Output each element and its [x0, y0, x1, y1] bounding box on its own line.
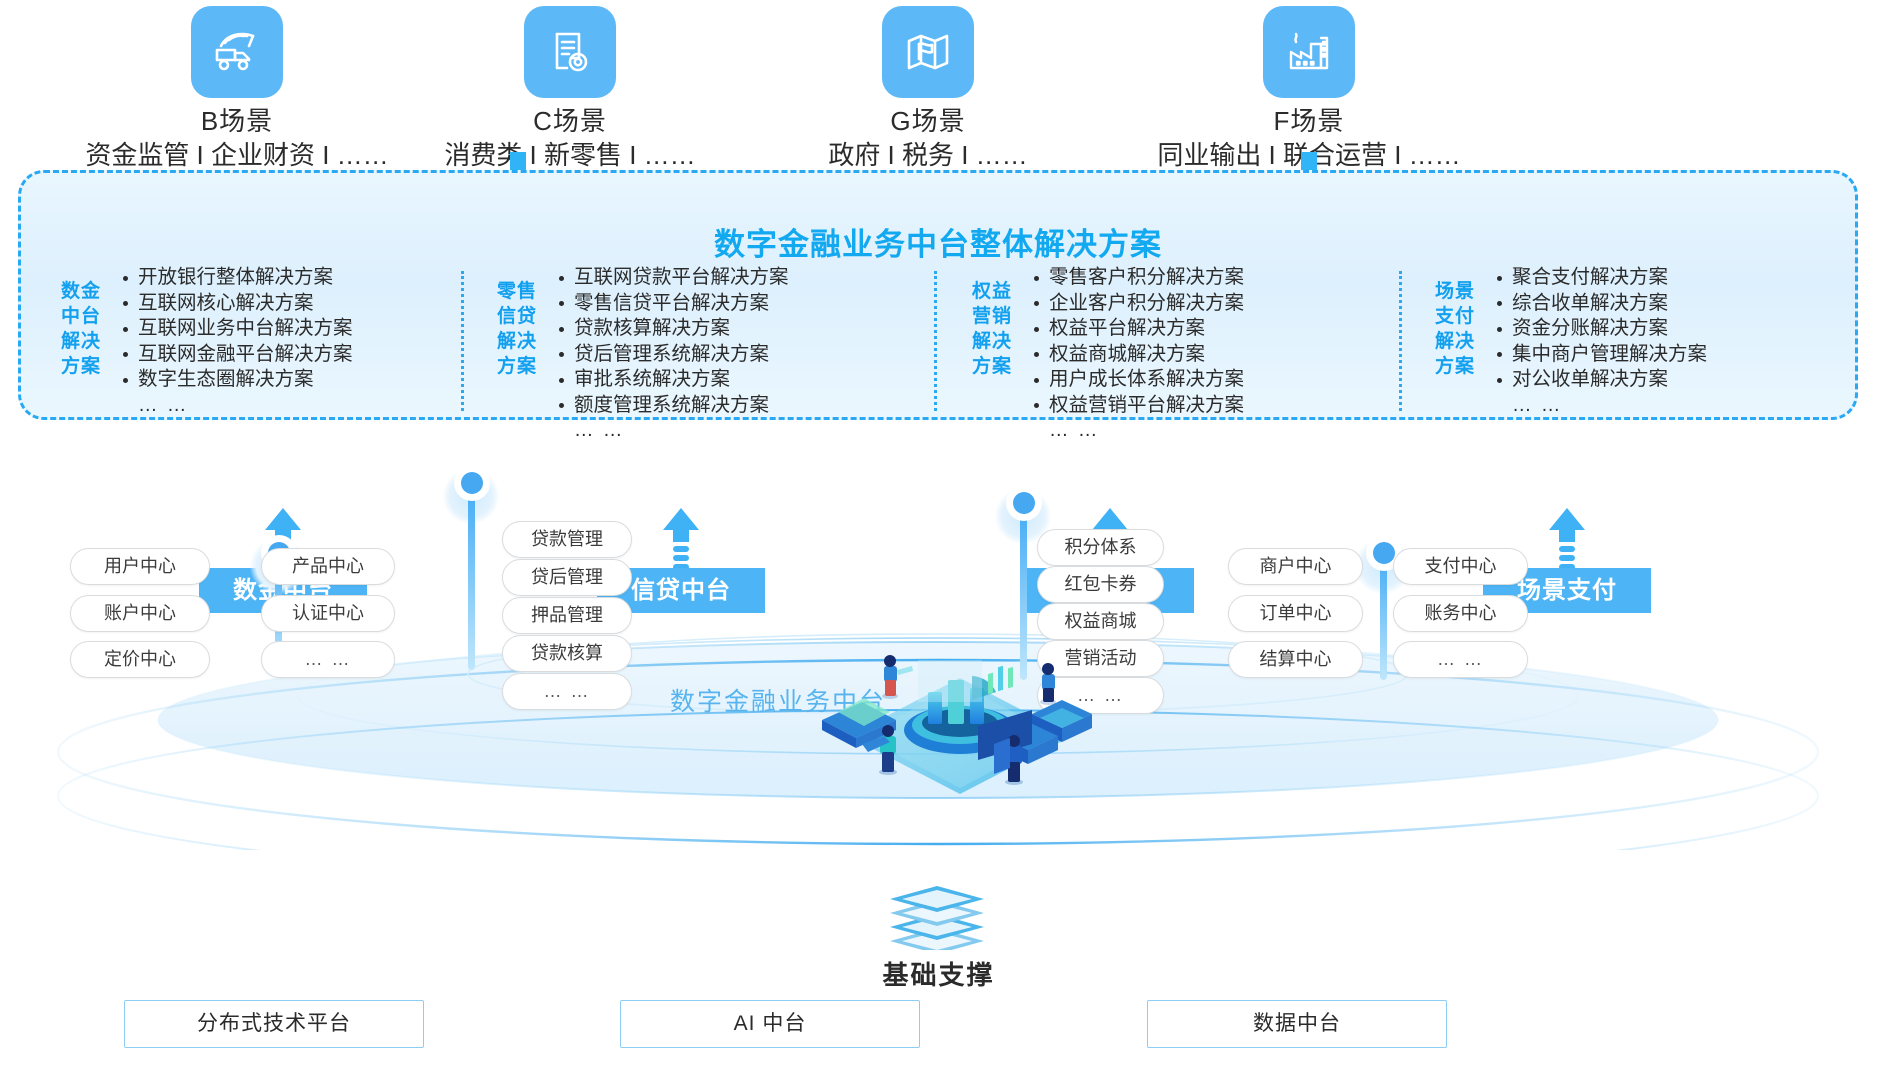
pill-rights-mall[interactable]: 权益商城	[1037, 603, 1164, 640]
scenario-subtitle: 资金监管 I 企业财资 I ……	[72, 138, 402, 172]
map-flag-icon	[882, 6, 974, 98]
list-item: 贷后管理系统解决方案	[557, 342, 789, 368]
list-item: 互联网贷款平台解决方案	[557, 265, 789, 291]
pill-coupon[interactable]: 红包卡券	[1037, 566, 1164, 603]
document-badge-icon	[524, 6, 616, 98]
scenario-subtitle: 消费类 I 新零售 I ……	[405, 138, 735, 172]
list-ellipsis: … …	[121, 393, 353, 419]
stem-dot-xindai	[461, 472, 483, 494]
column-item-list: 零售客户积分解决方案 企业客户积分解决方案 权益平台解决方案 权益商城解决方案 …	[1018, 265, 1244, 444]
stem-dot-changjing	[1373, 542, 1395, 564]
list-item: 用户成长体系解决方案	[1032, 367, 1244, 393]
scenario-title: B场景	[72, 104, 402, 138]
list-item: 互联网业务中台解决方案	[121, 316, 353, 342]
scenario-card-g[interactable]: G场景 政府 I 税务 I ……	[763, 6, 1093, 172]
base-support-title: 基础支撑	[0, 955, 1877, 992]
base-box-data-platform[interactable]: 数据中台	[1147, 1000, 1447, 1048]
list-ellipsis: … …	[557, 418, 789, 444]
solution-column-changjing: 场景 支付 解决 方案 聚合支付解决方案 综合收单解决方案 资金分账解决方案 集…	[1429, 265, 1849, 418]
person-figure	[994, 735, 1023, 785]
column-divider-1	[461, 271, 464, 411]
column-item-list: 互联网贷款平台解决方案 零售信贷平台解决方案 贷款核算解决方案 贷后管理系统解决…	[543, 265, 789, 444]
column-divider-2	[934, 271, 937, 411]
pill-more-xindai[interactable]: … …	[502, 673, 632, 710]
list-item: 互联网核心解决方案	[121, 291, 353, 317]
solution-column-lingshou: 零售 信贷 解决 方案 互联网贷款平台解决方案 零售信贷平台解决方案 贷款核算解…	[491, 265, 921, 444]
pill-pricing-center[interactable]: 定价中心	[70, 641, 210, 678]
scenario-title: G场景	[763, 104, 1093, 138]
column-item-list: 开放银行整体解决方案 互联网核心解决方案 互联网业务中台解决方案 互联网金融平台…	[107, 265, 353, 418]
list-item: 企业客户积分解决方案	[1032, 291, 1244, 317]
pill-more-changjing[interactable]: … …	[1393, 641, 1528, 678]
stem-xindai	[468, 480, 475, 670]
pill-more-shujin[interactable]: … …	[261, 641, 395, 678]
pill-user-center[interactable]: 用户中心	[70, 548, 210, 585]
solution-column-shujin: 数金 中台 解决 方案 开放银行整体解决方案 互联网核心解决方案 互联网业务中台…	[55, 265, 455, 418]
column-tag: 权益 营销 解决 方案	[966, 265, 1018, 379]
list-item: 零售信贷平台解决方案	[557, 291, 789, 317]
scenario-subtitle: 政府 I 税务 I ……	[763, 138, 1093, 172]
layers-stack-icon	[872, 880, 1002, 950]
pill-account-center[interactable]: 账户中心	[70, 595, 210, 632]
diagram-canvas: B场景 资金监管 I 企业财资 I …… C场景 消费类 I 新零售 I ……	[0, 0, 1877, 1070]
solution-columns: 数金 中台 解决 方案 开放银行整体解决方案 互联网核心解决方案 互联网业务中台…	[21, 265, 1855, 415]
panel-title: 数字金融业务中台整体解决方案	[21, 219, 1855, 264]
pill-points-system[interactable]: 积分体系	[1037, 529, 1164, 566]
stem-changjing	[1380, 550, 1387, 680]
scenario-title: C场景	[405, 104, 735, 138]
pill-loan-mgmt[interactable]: 贷款管理	[502, 521, 632, 558]
base-box-ai-platform[interactable]: AI 中台	[620, 1000, 920, 1048]
pill-auth-center[interactable]: 认证中心	[261, 595, 395, 632]
solution-panel: 数字金融业务中台整体解决方案 数金 中台 解决 方案 开放银行整体解决方案 互联…	[18, 170, 1858, 420]
truck-shipping-icon	[191, 6, 283, 98]
arrow-up-changjing	[1547, 508, 1587, 570]
isometric-platform-illustration	[800, 640, 1120, 820]
list-item: 额度管理系统解决方案	[557, 393, 789, 419]
list-ellipsis: … …	[1495, 393, 1707, 419]
pill-order-center[interactable]: 订单中心	[1228, 595, 1363, 632]
scenario-card-f[interactable]: F场景 同业输出 I 联合运营 I ……	[1144, 6, 1474, 172]
stem-dot-yingxiao	[1013, 492, 1035, 514]
solution-column-quanyi: 权益 营销 解决 方案 零售客户积分解决方案 企业客户积分解决方案 权益平台解决…	[966, 265, 1396, 444]
column-tag: 数金 中台 解决 方案	[55, 265, 107, 379]
list-item: 数字生态圈解决方案	[121, 367, 353, 393]
pill-post-loan-mgmt[interactable]: 贷后管理	[502, 559, 632, 596]
scenario-row: B场景 资金监管 I 企业财资 I …… C场景 消费类 I 新零售 I ……	[0, 0, 1877, 175]
list-item: 权益营销平台解决方案	[1032, 393, 1244, 419]
list-item: 权益商城解决方案	[1032, 342, 1244, 368]
base-box-distributed-platform[interactable]: 分布式技术平台	[124, 1000, 424, 1048]
list-item: 集中商户管理解决方案	[1495, 342, 1707, 368]
pill-loan-accounting[interactable]: 贷款核算	[502, 635, 632, 672]
list-item: 聚合支付解决方案	[1495, 265, 1707, 291]
person-figure	[1040, 663, 1056, 705]
pill-product-center[interactable]: 产品中心	[261, 548, 395, 585]
list-item: 综合收单解决方案	[1495, 291, 1707, 317]
pill-settlement-center[interactable]: 结算中心	[1228, 641, 1363, 678]
list-item: 审批系统解决方案	[557, 367, 789, 393]
list-item: 开放银行整体解决方案	[121, 265, 353, 291]
column-divider-3	[1399, 271, 1402, 411]
column-item-list: 聚合支付解决方案 综合收单解决方案 资金分账解决方案 集中商户管理解决方案 对公…	[1481, 265, 1707, 418]
pill-merchant-center[interactable]: 商户中心	[1228, 548, 1363, 585]
list-item: 对公收单解决方案	[1495, 367, 1707, 393]
pill-accounting-center[interactable]: 账务中心	[1393, 595, 1528, 632]
scenario-card-b[interactable]: B场景 资金监管 I 企业财资 I ……	[72, 6, 402, 172]
column-tag: 场景 支付 解决 方案	[1429, 265, 1481, 379]
list-item: 贷款核算解决方案	[557, 316, 789, 342]
scenario-title: F场景	[1144, 104, 1474, 138]
list-item: 资金分账解决方案	[1495, 316, 1707, 342]
scenario-card-c[interactable]: C场景 消费类 I 新零售 I ……	[405, 6, 735, 172]
list-item: 权益平台解决方案	[1032, 316, 1244, 342]
pill-payment-center[interactable]: 支付中心	[1393, 548, 1528, 585]
list-item: 互联网金融平台解决方案	[121, 342, 353, 368]
person-figure	[882, 655, 913, 699]
factory-icon	[1263, 6, 1355, 98]
list-ellipsis: … …	[1032, 418, 1244, 444]
arrow-up-xindai	[661, 508, 701, 570]
pill-collateral-mgmt[interactable]: 押品管理	[502, 597, 632, 634]
list-item: 零售客户积分解决方案	[1032, 265, 1244, 291]
column-tag: 零售 信贷 解决 方案	[491, 265, 543, 379]
